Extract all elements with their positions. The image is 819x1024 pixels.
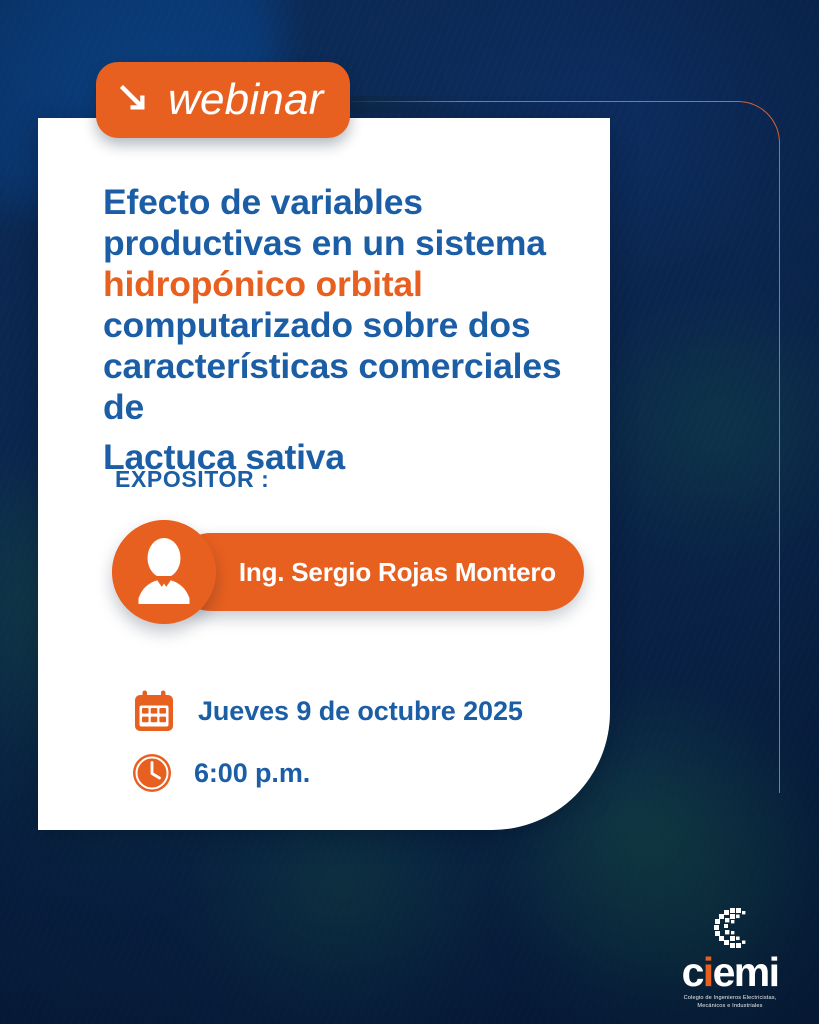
title-line-4: computarizado sobre dos	[103, 305, 595, 346]
title-line-1: Efecto de variables	[103, 182, 595, 223]
ciemi-wordmark-emi: emi	[713, 949, 779, 995]
avatar	[112, 520, 216, 624]
arrow-down-right-icon	[118, 83, 152, 117]
webinar-badge-label: webinar	[168, 78, 324, 122]
page-title: Efecto de variables productivas en un si…	[103, 182, 595, 478]
calendar-icon	[131, 688, 177, 734]
speaker-row: Ing. Sergio Rojas Montero	[112, 520, 584, 624]
title-line-2: productivas en un sistema	[103, 223, 595, 264]
ciemi-tagline-line-2: Mecánicos e Industriales	[697, 1003, 762, 1009]
ciemi-logo: ciemi Colegio de Ingenieros Electricista…	[663, 906, 797, 1010]
ciemi-wordmark-c: c	[682, 949, 703, 995]
speaker-name: Ing. Sergio Rojas Montero	[239, 557, 556, 588]
ciemi-tagline: Colegio de Ingenieros Electricistas, Mec…	[663, 995, 797, 1010]
ciemi-wordmark: ciemi	[663, 954, 797, 992]
speaker-section-label: EXPOSITOR :	[115, 466, 269, 493]
ciemi-pixel-c-icon	[708, 906, 752, 950]
ciemi-tagline-line-1: Colegio de Ingenieros Electricistas,	[684, 995, 777, 1001]
webinar-badge: webinar	[96, 62, 350, 138]
event-date-row: Jueves 9 de octubre 2025	[131, 688, 523, 734]
event-time-row: 6:00 p.m.	[131, 752, 310, 794]
event-date-text: Jueves 9 de octubre 2025	[198, 696, 523, 727]
clock-icon	[131, 752, 173, 794]
speaker-name-pill: Ing. Sergio Rojas Montero	[172, 533, 584, 611]
person-in-suit-avatar-icon	[112, 520, 216, 624]
event-time-text: 6:00 p.m.	[194, 758, 310, 789]
webinar-poster: webinar Efecto de variables productivas …	[0, 0, 819, 1024]
ciemi-wordmark-i: i	[703, 949, 713, 995]
title-line-5: características comerciales de	[103, 346, 595, 428]
title-highlight: hidropónico orbital	[103, 264, 595, 305]
